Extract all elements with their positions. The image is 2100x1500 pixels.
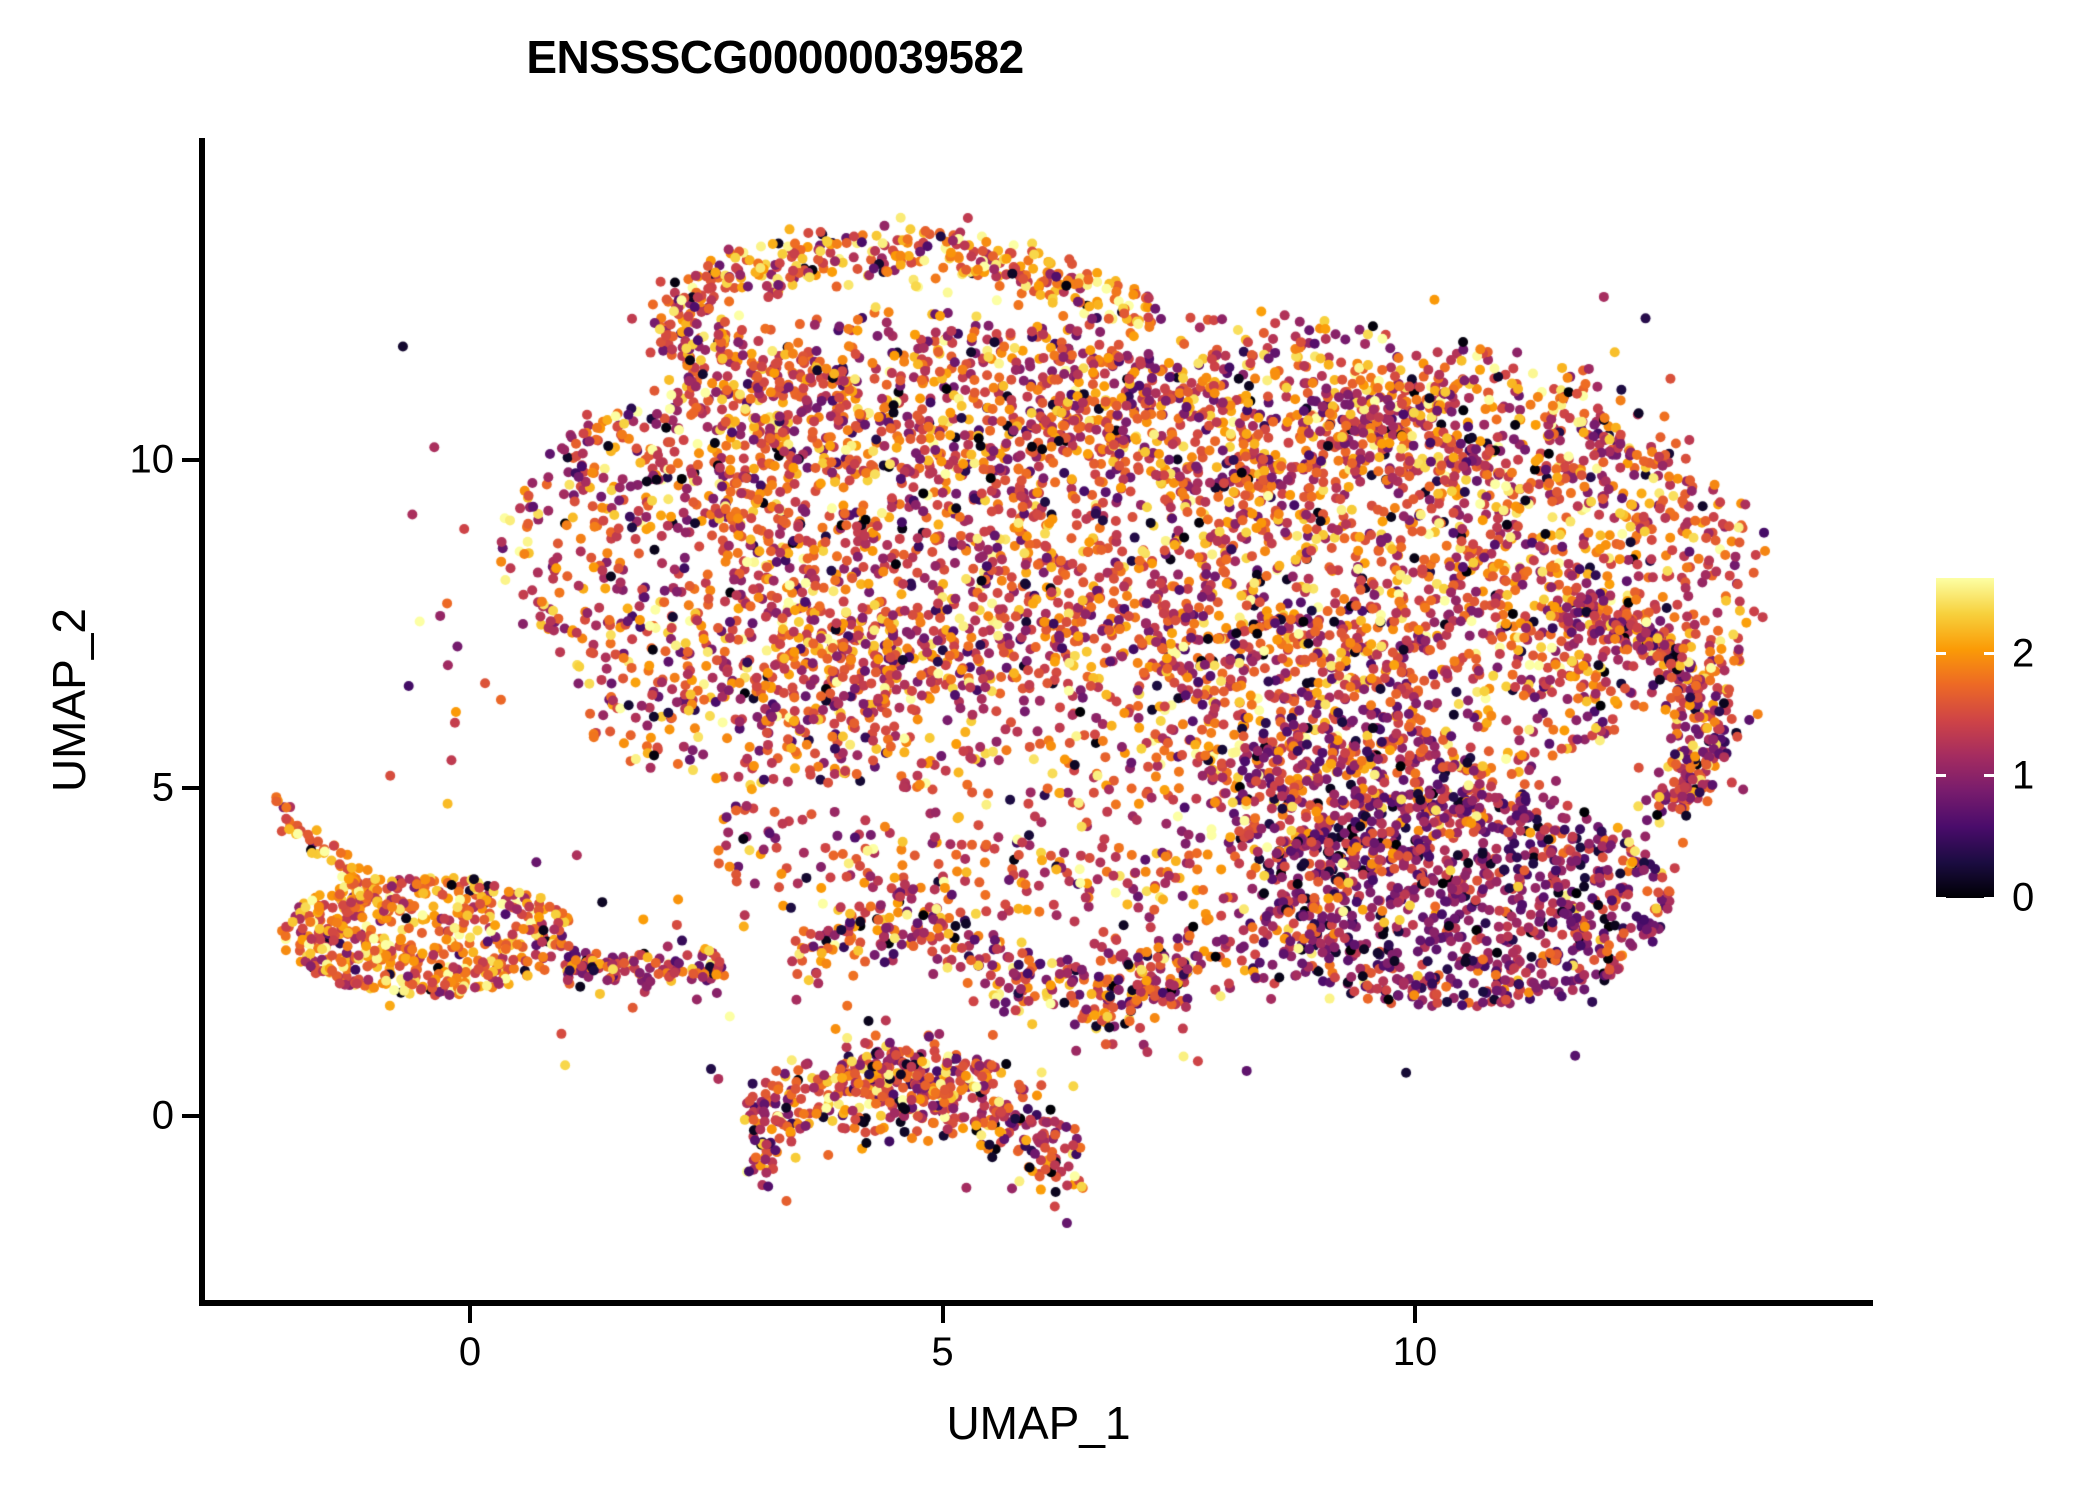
y-axis-line [199, 138, 205, 1306]
x-axis-label: UMAP_1 [204, 1396, 1873, 1450]
y-tick-mark [182, 1114, 199, 1118]
y-tick-label: 0 [152, 1094, 174, 1139]
y-tick-label: 10 [130, 438, 175, 483]
scatter-points-layer [204, 138, 1873, 1303]
x-tick-label: 10 [1393, 1330, 1438, 1375]
x-tick-mark [941, 1306, 945, 1323]
chart-root: ENSSSCG00000039582 0510 0510 UMAP_1 UMAP… [0, 0, 2100, 1500]
colorbar-legend [1936, 578, 1994, 898]
x-tick-label: 5 [931, 1330, 953, 1375]
x-tick-mark [1413, 1306, 1417, 1323]
x-axis-line [199, 1300, 1873, 1306]
y-axis-label: UMAP_2 [42, 350, 96, 1050]
y-tick-mark [182, 786, 199, 790]
colorbar-tick-mark [1936, 897, 1946, 900]
plot-panel [204, 138, 1873, 1303]
colorbar-tick-label: 2 [2012, 631, 2034, 676]
colorbar-tick-label: 1 [2012, 753, 2034, 798]
colorbar-tick-label: 0 [2012, 876, 2034, 921]
colorbar-tick-mark [1936, 652, 1946, 655]
colorbar-tick-mark [1936, 774, 1946, 777]
page-title: ENSSSCG00000039582 [0, 30, 1550, 84]
colorbar-gradient [1936, 578, 1994, 898]
y-tick-label: 5 [152, 766, 174, 811]
colorbar-tick-mark [1984, 897, 1994, 900]
x-tick-label: 0 [459, 1330, 481, 1375]
x-tick-mark [468, 1306, 472, 1323]
colorbar-tick-mark [1984, 652, 1994, 655]
colorbar-tick-mark [1984, 774, 1994, 777]
y-tick-mark [182, 458, 199, 462]
